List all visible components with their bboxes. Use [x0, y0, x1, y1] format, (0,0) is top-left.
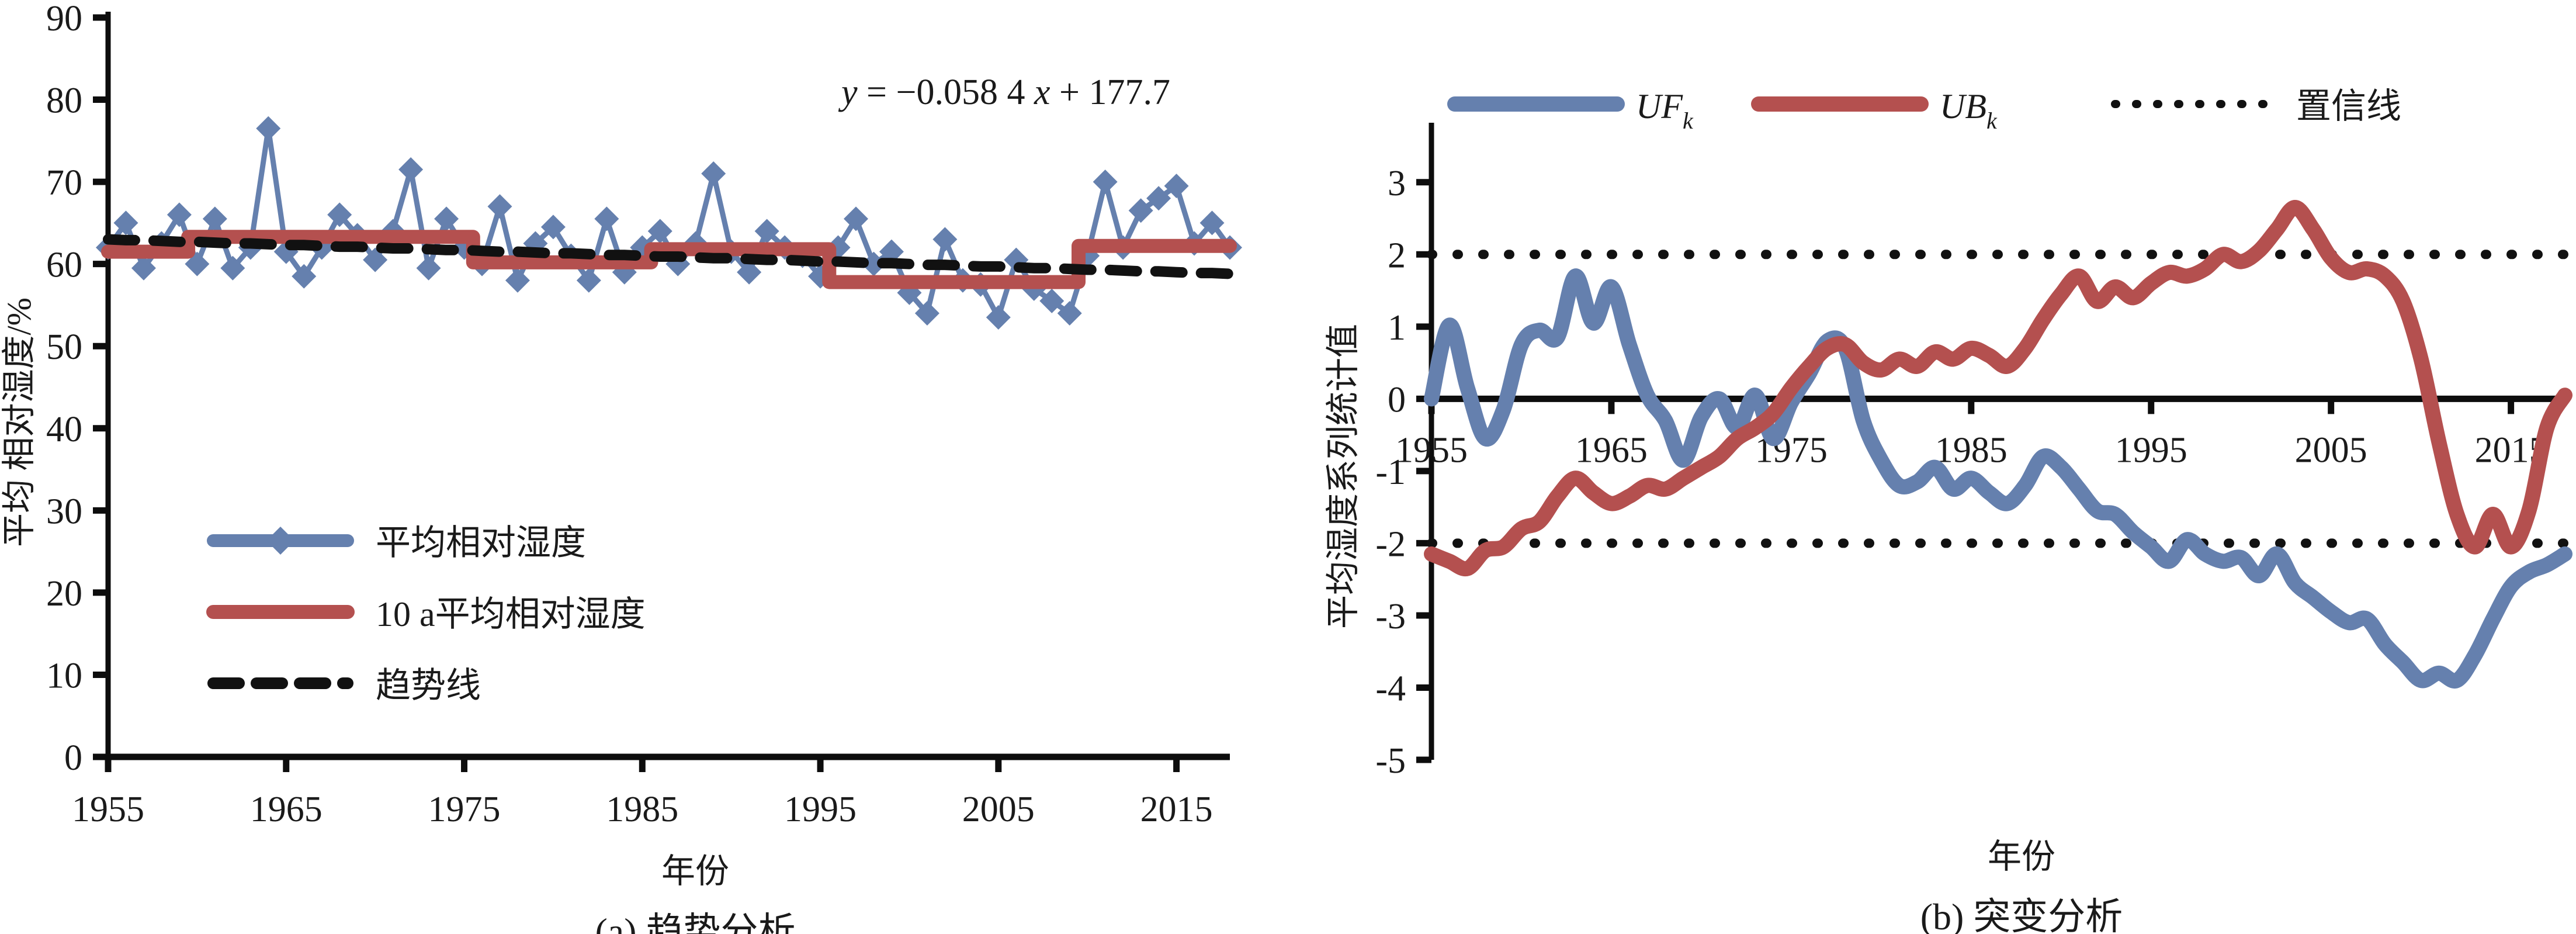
y-tick-label-0: 0: [64, 738, 82, 778]
data-point-marker: [417, 256, 441, 281]
legend-item-1[interactable]: UBk: [1759, 87, 1998, 134]
panel-a-y-axis-label: 平均 相对湿度/%: [0, 298, 38, 547]
mutation-analysis-panel: -5-4-3-2-1012319551965197519851995200520…: [1285, 0, 2576, 934]
panel-a-legend: 平均相对湿度10 a平均相对湿度趋势线: [213, 524, 646, 705]
y-tick-label-10: 10: [46, 656, 82, 696]
y-tick-label-80: 80: [46, 81, 82, 121]
y-tick-label-60: 60: [46, 245, 82, 285]
y-tick-label--4: -4: [1375, 669, 1406, 708]
y-tick-label-3: 3: [1388, 164, 1406, 203]
legend-swatch-diamond-icon: [266, 527, 294, 555]
data-point-marker: [844, 206, 868, 231]
y-tick-label--2: -2: [1375, 524, 1406, 564]
y-tick-label-30: 30: [46, 492, 82, 531]
legend-label-1: UBk: [1940, 87, 1998, 134]
x-tick-label-1985: 1985: [606, 790, 678, 829]
x-tick-label-1965: 1965: [250, 790, 323, 829]
y-tick-label-50: 50: [46, 327, 82, 367]
series-ufk: [1431, 276, 2565, 681]
legend-item-2[interactable]: 置信线: [2115, 87, 2401, 126]
data-point-marker: [434, 206, 459, 231]
x-tick-label-1955: 1955: [72, 790, 144, 829]
panel-b-axes: -5-4-3-2-1012319551965197519851995200520…: [1375, 123, 2565, 781]
data-point-marker: [986, 305, 1011, 330]
trend-equation: y = −0.058 4 x + 177.7: [838, 72, 1170, 112]
x-tick-label-2015: 2015: [1140, 790, 1213, 829]
panel-a-series: [96, 116, 1242, 330]
data-point-marker: [505, 268, 530, 293]
y-tick-label--3: -3: [1375, 597, 1406, 636]
data-point-marker: [594, 206, 619, 231]
panel-b-x-axis-label: 年份: [1988, 838, 2055, 876]
legend-label-0: UFk: [1636, 87, 1694, 134]
panel-b-caption: (b) 突变分析: [1920, 896, 2123, 934]
data-point-marker: [398, 157, 423, 182]
panel-a-axes: 0102030405060708090195519651975198519952…: [46, 0, 1230, 829]
data-point-marker: [1093, 169, 1118, 194]
x-tick-label-1995: 1995: [2115, 430, 2187, 470]
legend-item-0[interactable]: 平均相对湿度: [213, 524, 586, 562]
y-tick-label-20: 20: [46, 574, 82, 614]
y-tick-label-40: 40: [46, 410, 82, 449]
legend-item-1[interactable]: 10 a平均相对湿度: [213, 595, 646, 634]
x-tick-label-2005: 2005: [962, 790, 1035, 829]
x-tick-label-1955: 1955: [1395, 430, 1468, 470]
legend-item-0[interactable]: UFk: [1455, 87, 1694, 134]
legend-label-1: 10 a平均相对湿度: [376, 595, 646, 634]
panel-b-y-axis-label: 平均湿度系列统计值: [1324, 324, 1362, 629]
series-ubk: [1431, 207, 2565, 569]
panel-a-x-axis-label: 年份: [661, 852, 729, 890]
legend-label-0: 平均相对湿度: [376, 524, 586, 562]
trend-equation-text: y = −0.058 4 x + 177.7: [838, 72, 1170, 112]
legend-item-2[interactable]: 趋势线: [213, 666, 481, 705]
x-tick-label-2005: 2005: [2295, 430, 2367, 470]
legend-label-2: 置信线: [2296, 87, 2401, 126]
panel-b-chart: -5-4-3-2-1012319551965197519851995200520…: [1285, 0, 2576, 934]
y-tick-label--5: -5: [1375, 741, 1406, 781]
x-tick-label-1965: 1965: [1575, 430, 1648, 470]
y-tick-label-0: 0: [1388, 380, 1406, 420]
x-tick-label-1975: 1975: [428, 790, 501, 829]
data-point-marker: [487, 194, 512, 219]
y-tick-label-2: 2: [1388, 236, 1406, 275]
y-tick-label-1: 1: [1388, 308, 1406, 348]
panel-a-caption: (a) 趋势分析: [595, 911, 795, 934]
y-tick-label-90: 90: [46, 0, 82, 39]
legend-label-2: 趋势线: [376, 666, 481, 705]
data-point-marker: [167, 202, 192, 227]
x-tick-label-1985: 1985: [1935, 430, 2008, 470]
panel-a-chart: 0102030405060708090195519651975198519952…: [0, 0, 1285, 934]
data-point-marker: [932, 227, 957, 252]
x-tick-label-1995: 1995: [784, 790, 857, 829]
y-tick-label-70: 70: [46, 163, 82, 203]
data-point-marker: [701, 161, 726, 186]
data-point-marker: [203, 206, 227, 231]
data-point-marker: [256, 116, 280, 141]
trend-analysis-panel: 0102030405060708090195519651975198519952…: [0, 0, 1285, 934]
panel-b-legend: UFkUBk置信线: [1455, 87, 2401, 134]
